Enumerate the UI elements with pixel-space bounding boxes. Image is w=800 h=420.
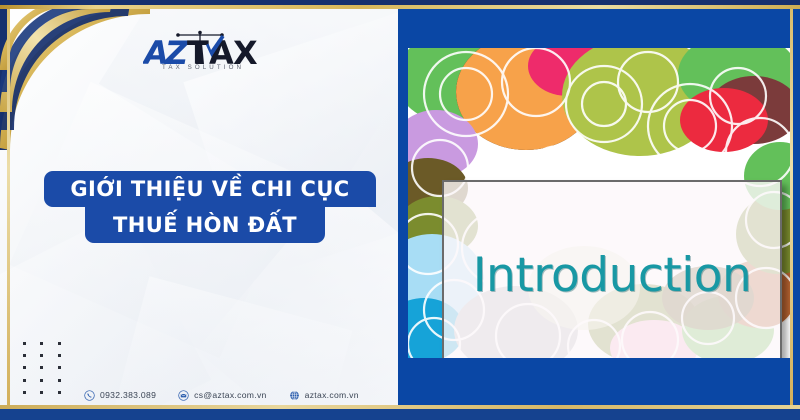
dot-grid-decoration bbox=[16, 337, 68, 399]
dot bbox=[58, 354, 61, 357]
dot bbox=[58, 379, 61, 382]
dot bbox=[40, 354, 43, 357]
dot bbox=[58, 391, 61, 394]
contact-email[interactable]: cs@aztax.com.vn bbox=[178, 390, 266, 401]
dot bbox=[23, 342, 26, 345]
website-url: aztax.com.vn bbox=[305, 390, 359, 400]
frame-right-border bbox=[790, 9, 793, 405]
page-title-line2: THUẾ HÒN ĐẤT bbox=[85, 207, 325, 243]
dot bbox=[23, 354, 26, 357]
envelope-icon bbox=[178, 390, 189, 401]
footer-contact-bar: 0932.383.089 cs@aztax.com.vn aztax.com.v… bbox=[84, 387, 359, 403]
right-panel: Introduction bbox=[398, 0, 800, 420]
dot bbox=[40, 342, 43, 345]
dot bbox=[58, 366, 61, 369]
frame-left-border bbox=[7, 9, 10, 405]
globe-icon bbox=[289, 390, 300, 401]
banner: A Z T A X TAX SOLUTION GIỚI THIỆU VỀ CHI… bbox=[0, 0, 800, 420]
dot bbox=[40, 366, 43, 369]
dot bbox=[23, 366, 26, 369]
introduction-slide-image: Introduction bbox=[408, 48, 790, 358]
phone-icon bbox=[84, 390, 95, 401]
dot bbox=[40, 379, 43, 382]
page-title-line1: GIỚI THIỆU VỀ CHI CỤC bbox=[44, 171, 376, 207]
dot bbox=[58, 342, 61, 345]
frame-top-border bbox=[0, 5, 800, 9]
dot bbox=[23, 379, 26, 382]
phone-number: 0932.383.089 bbox=[100, 390, 156, 400]
introduction-card: Introduction bbox=[442, 180, 782, 358]
dot bbox=[40, 391, 43, 394]
contact-phone[interactable]: 0932.383.089 bbox=[84, 390, 156, 401]
dot bbox=[23, 391, 26, 394]
logo-tagline: TAX SOLUTION bbox=[143, 64, 263, 71]
contact-website[interactable]: aztax.com.vn bbox=[289, 390, 359, 401]
email-address: cs@aztax.com.vn bbox=[194, 390, 266, 400]
frame-bottom-navy-bar bbox=[0, 409, 800, 420]
introduction-heading: Introduction bbox=[473, 252, 752, 299]
